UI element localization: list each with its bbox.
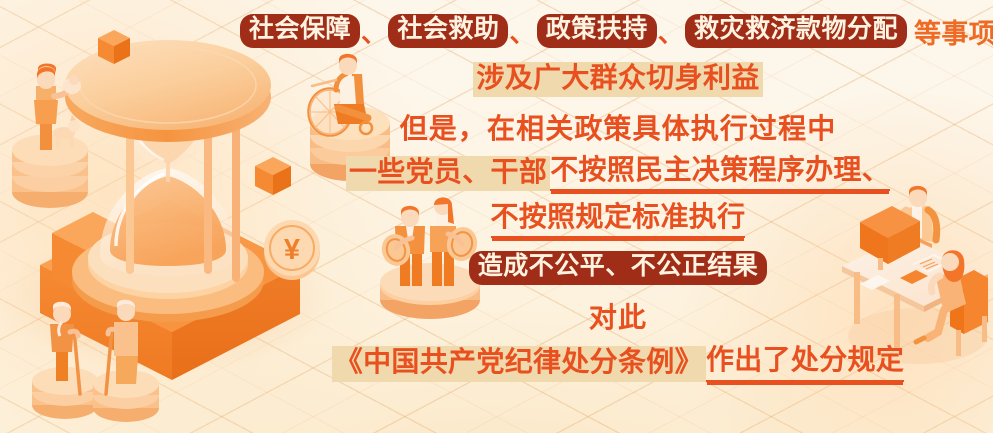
plain-regarding-this: 对此 xyxy=(589,296,647,336)
underline-not-following-procedure: 不按照民主决策程序办理、 xyxy=(550,156,890,191)
text-line-5: 不按照规定标准执行 xyxy=(491,197,746,244)
highlight-discipline-regulations: 《中国共产党纪律处分条例》 xyxy=(332,346,706,381)
text-content: 社会保障 、 社会救助 、 政策扶持 、 救灾救济款物分配 等事项 涉及广大群众… xyxy=(250,6,986,426)
text-line-3: 但是，在相关政策具体执行过程中 xyxy=(400,103,837,150)
badge-social-assistance: 社会救助 xyxy=(388,14,508,48)
highlight-public-interest: 涉及广大群众切身利益 xyxy=(473,62,762,97)
text-line-2: 涉及广大群众切身利益 xyxy=(473,56,762,103)
underline-disciplinary-provisions: 作出了处分规定 xyxy=(706,346,904,381)
underline-not-following-standards: 不按照规定标准执行 xyxy=(491,203,746,238)
line1-tail-text: 等事项 xyxy=(907,12,993,51)
badge-policy-support: 政策扶持 xyxy=(537,14,657,48)
hourglass-top-cap xyxy=(65,40,271,142)
highlight-party-members-cadres: 一些党员、干部 xyxy=(346,156,550,191)
text-line-6: 造成不公平、不公正结果 xyxy=(469,244,768,292)
text-line-8: 《中国共产党纪律处分条例》 作出了处分规定 xyxy=(332,339,904,389)
badge-disaster-relief-distribution: 救灾救济款物分配 xyxy=(685,14,907,48)
text-line-1: 社会保障 、 社会救助 、 政策扶持 、 救灾救济款物分配 等事项 xyxy=(250,6,986,56)
badge-social-security: 社会保障 xyxy=(240,14,360,48)
badge-separator: 、 xyxy=(360,13,388,50)
mother-with-baby-and-dog-on-coin-stack xyxy=(12,64,88,209)
badge-separator: 、 xyxy=(657,13,685,50)
badge-unfair-results: 造成不公平、不公正结果 xyxy=(469,251,768,285)
text-line-7: 对此 xyxy=(589,292,647,339)
text-line-4: 一些党员、干部 不按照民主决策程序办理、 xyxy=(346,150,890,197)
poster-root: ¥ xyxy=(0,0,993,433)
badge-separator: 、 xyxy=(508,13,536,50)
plain-however-text: 但是，在相关政策具体执行过程中 xyxy=(400,107,837,147)
